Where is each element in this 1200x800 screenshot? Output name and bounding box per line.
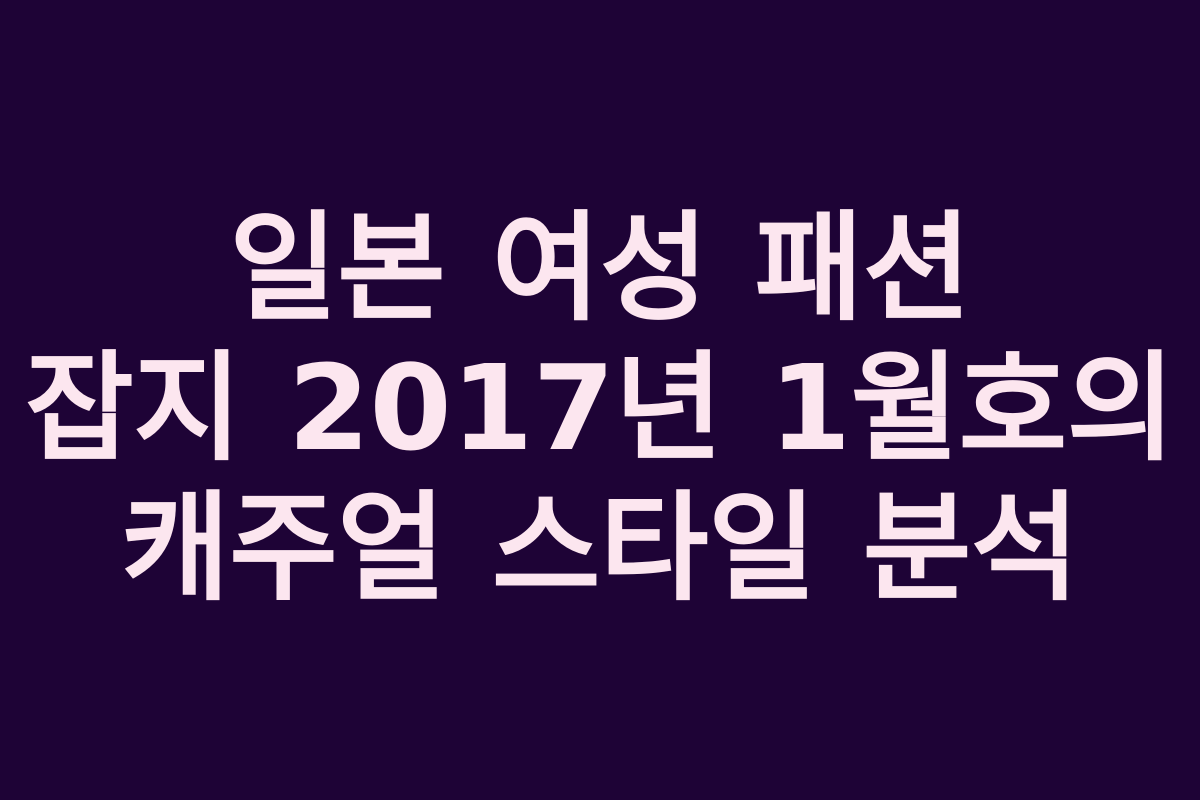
title-card: 일본 여성 패션 잡지 2017년 1월호의 캐주얼 스타일 분석 — [0, 0, 1200, 800]
page-title: 일본 여성 패션 잡지 2017년 1월호의 캐주얼 스타일 분석 — [0, 198, 1200, 618]
